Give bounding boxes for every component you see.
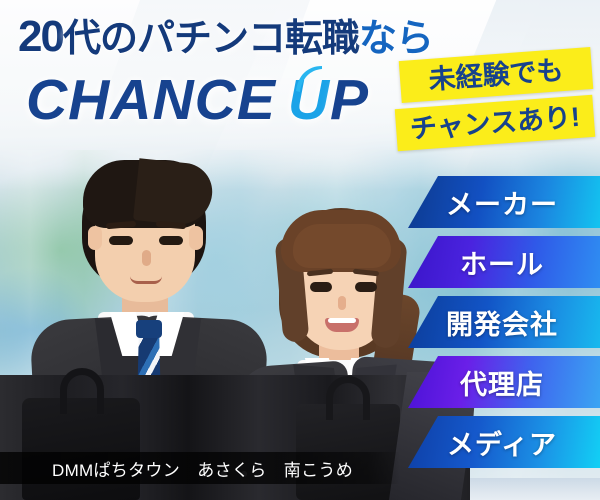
people-photo — [0, 140, 470, 500]
man-nose — [142, 250, 151, 266]
headline: 20代のパチンコ転職なら — [18, 14, 433, 60]
brand-logo-p: P — [330, 68, 369, 132]
woman-nose — [338, 296, 346, 310]
man-necktie-knot — [136, 320, 162, 338]
badge-line-1: 未経験でも — [399, 47, 594, 103]
brand-logo-up: UP — [288, 72, 369, 129]
woman-eye-right — [355, 282, 377, 292]
credit-text: DMMぱちタウン あさくら 南こうめ — [0, 456, 353, 481]
man-ear-right — [189, 226, 203, 250]
woman-bangs — [293, 224, 391, 268]
recruitment-banner: 20代のパチンコ転職なら CHANCEUP 未経験でも チャンスあり! メーカー… — [0, 0, 600, 500]
category-button-developer[interactable]: 開発会社 — [408, 296, 600, 348]
man-mouth — [130, 276, 162, 284]
category-button-agency[interactable]: 代理店 — [408, 356, 600, 408]
category-button-maker[interactable]: メーカー — [408, 176, 600, 228]
category-button-media[interactable]: メディア — [408, 416, 600, 468]
experience-badge: 未経験でも チャンスあり! — [396, 52, 596, 150]
bag-left-handle — [60, 368, 104, 414]
category-list: メーカー ホール 開発会社 代理店 メディア — [408, 176, 600, 468]
man-ear-left — [88, 226, 102, 250]
headline-number: 20 — [18, 12, 63, 61]
brand-logo-u: U — [288, 68, 330, 132]
brand-logo: CHANCEUP — [26, 72, 369, 129]
woman-teeth — [328, 318, 356, 323]
woman-eye-left — [310, 282, 332, 292]
bag-left — [22, 398, 140, 500]
badge-line-2: チャンスあり! — [395, 95, 596, 151]
headline-rest: 代のパチンコ転職 — [63, 18, 359, 60]
credit-bar: DMMぱちタウン あさくら 南こうめ — [0, 452, 400, 484]
category-button-hall[interactable]: ホール — [408, 236, 600, 288]
man-eye-right — [159, 236, 183, 245]
man-eye-left — [109, 236, 133, 245]
bag-right-handle — [326, 376, 370, 420]
brand-logo-chance: CHANCE — [26, 68, 276, 132]
